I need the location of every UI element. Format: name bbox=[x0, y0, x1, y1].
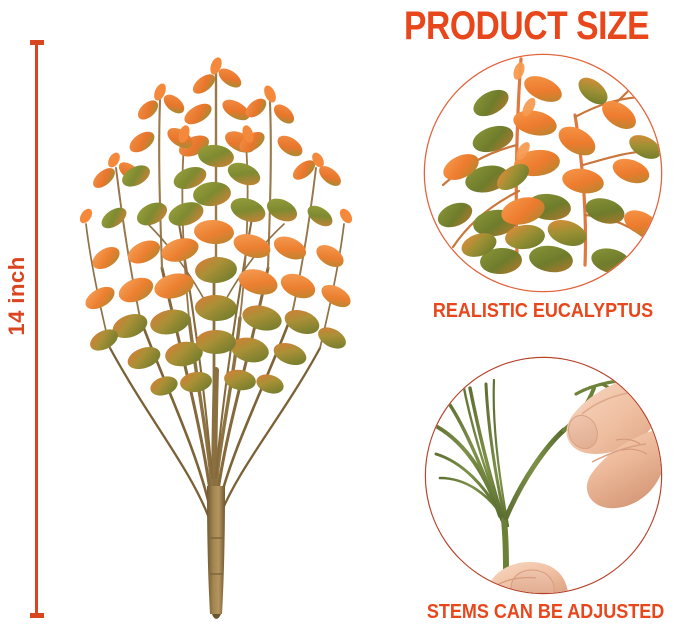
measurement-label: 14 inch bbox=[4, 241, 30, 351]
feature-realistic-eucalyptus: REALISTIC EUCALYPTUS bbox=[414, 55, 672, 323]
feature-stems-adjustable: STEMS CAN BE ADJUSTED bbox=[414, 358, 672, 624]
ruler-bottom-cap bbox=[30, 613, 44, 618]
feature-image-eucalyptus-closeup bbox=[425, 55, 661, 291]
size-ruler bbox=[30, 40, 44, 618]
page-title: PRODUCT SIZE bbox=[404, 4, 635, 48]
product-photo bbox=[44, 18, 390, 624]
feature-caption-eucalyptus: REALISTIC EUCALYPTUS bbox=[427, 300, 659, 323]
feature-caption-stems: STEMS CAN BE ADJUSTED bbox=[427, 601, 659, 624]
feature-image-stems-bending bbox=[426, 358, 661, 593]
ruler-line bbox=[35, 40, 38, 618]
